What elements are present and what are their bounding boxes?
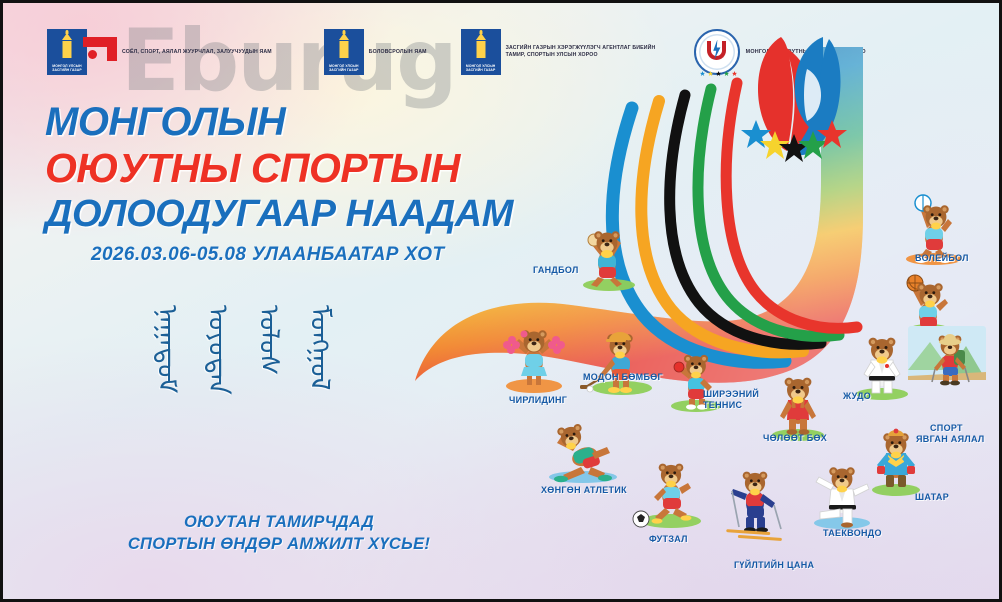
sport-label: ЖУДО (842, 391, 871, 401)
logo-label-sport-committee: ЗАСГИЙН ГАЗРЫН ХЭРЭГЖҮҮЛЭГЧ АГЕНТЛАГ БИЕ… (506, 45, 656, 58)
traditional-mongolian-script: ᠮᠣᠩᠭᠣᠯ ᠤᠯᠤᠰ ᠣᠶᠤᠲᠠᠨ ᠨᠠᠭᠠᠳᠤᠮ (153, 305, 333, 395)
logo-student-sport-federation: МОНГОЛЫН ОЮУТНЫ СПОРТЫН ХОЛБОО (694, 29, 866, 75)
sport-label: САГСАН (940, 329, 979, 339)
state-emblem-icon: МОНГОЛ УЛСЫН ЗАСГИЙН ГАЗАР (461, 29, 501, 75)
event-dateline: 2026.03.06-05.08 УЛААНБААТАР ХОТ (91, 244, 513, 266)
mongol-script-column-2: ᠤᠯᠤᠰ (255, 305, 282, 395)
state-emblem-icon: МОНГОЛ УЛСЫН ЗАСГИЙН ГАЗАР (47, 29, 87, 75)
golf-mascot-icon (580, 332, 633, 393)
title-line-3: ДОЛООДУГААР НААДАМ (45, 191, 513, 237)
olympic-ribbons-shape (612, 83, 857, 362)
five-stars-icon (741, 120, 847, 162)
mongol-script-column-3: ᠣᠶᠤᠲᠠᠨ (204, 305, 231, 395)
ministry-redmark-icon (83, 37, 117, 67)
sport-label: ЧӨЛӨӨТ БӨХ (763, 433, 827, 443)
emblem-caption: МОНГОЛ УЛСЫН ЗАСГИЙН ГАЗАР (325, 64, 363, 73)
skiing-mascot-icon (726, 472, 782, 541)
title-line-1: МОНГОЛЫН (45, 99, 513, 145)
soyombo-icon (337, 33, 350, 59)
table-tennis-mascot-icon (674, 355, 712, 410)
sport-label: ЯВГАН АЯЛАЛ (916, 434, 985, 444)
sport-label: ГАНДБОЛ (533, 265, 579, 275)
logo-ministry-culture-sport: МОНГОЛ УЛСЫН ЗАСГИЙН ГАЗАР СОЁЛ, СПОРТ, … (47, 29, 272, 75)
sport-label: ХӨНГӨН АТЛЕТИК (541, 485, 627, 495)
federation-stars-icon (700, 71, 738, 76)
sport-label: ВОЛЕЙБОЛ (915, 252, 969, 263)
emblem-caption: МОНГОЛ УЛСЫН ЗАСГИЙН ГАЗАР (48, 64, 86, 73)
mongol-script-column-1: ᠮᠣᠩᠭᠣᠯ (306, 305, 333, 395)
chess-mascot-icon (877, 429, 915, 487)
sport-label: БӨМБӨГ (940, 340, 981, 350)
slogan-line-1: ОЮУТАН ТАМИРЧДАД (109, 511, 449, 533)
logo-label-education: БОЛОВСРОЛЫН ЯАМ (369, 49, 427, 56)
title-line-2: ОЮУТНЫ СПОРТЫН (45, 145, 513, 191)
cheerleading-mascot-icon (503, 330, 565, 385)
taekwondo-mascot-icon (816, 467, 869, 527)
sport-label: МОДОН БӨМБӨГ (583, 372, 663, 382)
slogan-line-2: СПОРТЫН ӨНДӨР АМЖИЛТ ХҮСЬЕ! (109, 533, 449, 555)
state-emblem-icon: МОНГОЛ УЛСЫН ЗАСГИЙН ГАЗАР (324, 29, 364, 75)
futsal-mascot-icon (633, 464, 692, 527)
sponsor-logo-row: МОНГОЛ УЛСЫН ЗАСГИЙН ГАЗАР СОЁЛ, СПОРТ, … (47, 29, 866, 75)
sport-label: ГҮЙЛТИЙН ЦАНА (734, 559, 814, 570)
basketball-mascot-icon (907, 275, 948, 338)
logo-label-culture-sport: СОЁЛ, СПОРТ, АЯЛАЛ ЖУУРЧЛАЛ, ЗАЛУУЧУУДЫН… (122, 49, 272, 56)
mongol-script-column-4: ᠨᠠᠭᠠᠳᠤᠮ (153, 305, 180, 395)
emblem-caption: МОНГОЛ УЛСЫН ЗАСГИЙН ГАЗАР (462, 64, 500, 73)
athletics-mascot-icon (554, 423, 612, 482)
sport-label: ФУТЗАЛ (649, 534, 688, 544)
sport-label: ТАЕКВОНДО (823, 528, 882, 538)
sport-label: ЧИРЛИДИНГ (509, 395, 567, 405)
poster-canvas: Eburug МОНГОЛ УЛСЫН ЗАСГИЙН ГАЗАР СОЁЛ, … (0, 0, 1002, 602)
logo-label-federation: МОНГОЛЫН ОЮУТНЫ СПОРТЫН ХОЛБОО (746, 49, 866, 56)
sport-label: ШИРЭЭНИЙ (703, 388, 759, 399)
soyombo-icon (61, 33, 74, 59)
logo-sport-committee: МОНГОЛ УЛСЫН ЗАСГИЙН ГАЗАР ЗАСГИЙН ГАЗРЫ… (461, 29, 656, 75)
sport-label: ШАТАР (915, 492, 949, 502)
wrestling-mascot-icon (780, 378, 816, 435)
headline-block: МОНГОЛЫН ОЮУТНЫ СПОРТЫН ДОЛООДУГААР НААД… (45, 99, 513, 266)
handball-mascot-icon (588, 231, 622, 287)
hiking-mascot-icon (908, 326, 986, 385)
slogan-block: ОЮУТАН ТАМИРЧДАД СПОРТЫН ӨНДӨР АМЖИЛТ ХҮ… (109, 511, 449, 555)
federation-seal-icon (694, 29, 740, 75)
soyombo-icon (474, 33, 487, 59)
volleyball-mascot-icon (915, 195, 952, 263)
logo-ministry-education: МОНГОЛ УЛСЫН ЗАСГИЙН ГАЗАР БОЛОВСРОЛЫН Я… (324, 29, 427, 75)
judo-mascot-icon (864, 338, 900, 393)
sport-label: СПОРТ (930, 423, 963, 433)
sport-label: ТЕННИС (703, 400, 742, 410)
